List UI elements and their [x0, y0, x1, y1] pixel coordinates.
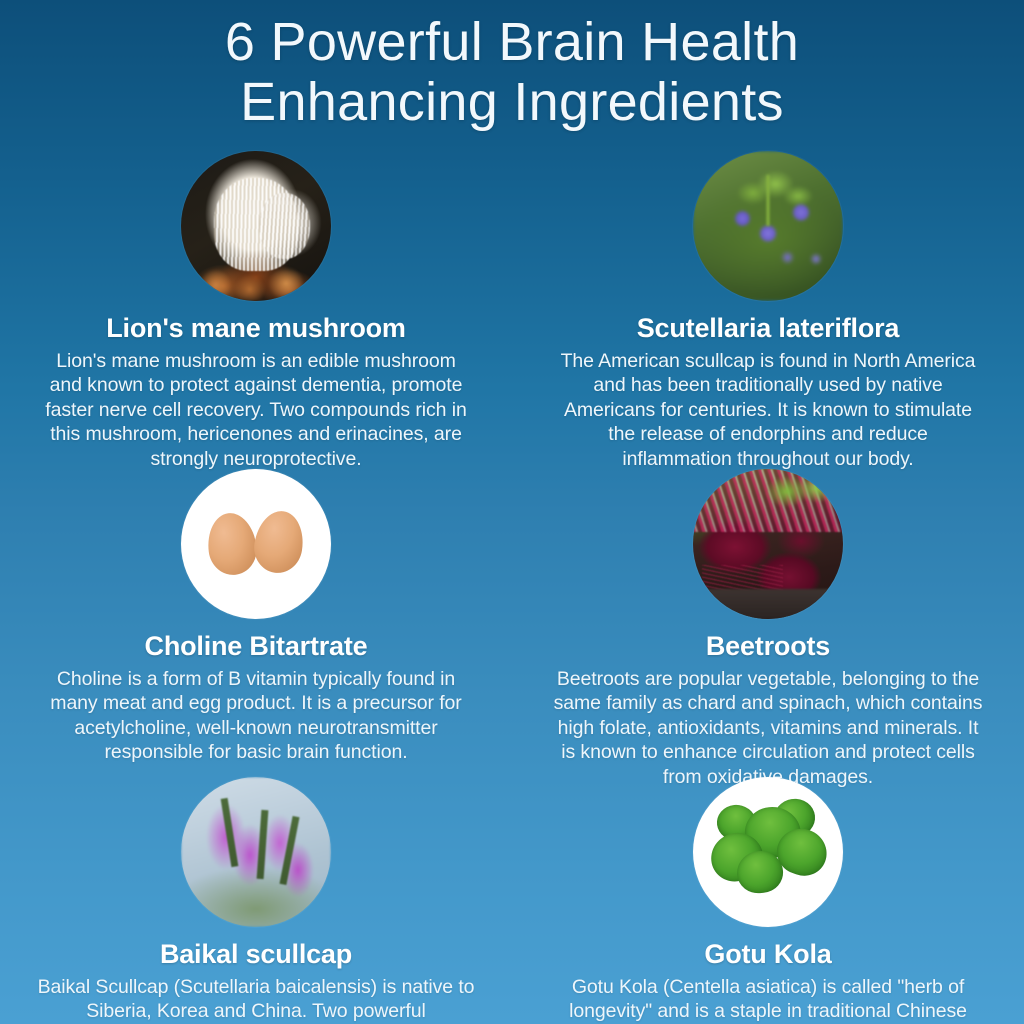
ingredient-description: Choline is a form of B vitamin typically…	[41, 667, 471, 765]
ingredient-title: Scutellaria lateriflora	[637, 314, 900, 344]
ingredient-title: Choline Bitartrate	[145, 632, 368, 662]
baikal-scullcap-photo	[181, 777, 331, 927]
ingredient-title: Gotu Kola	[704, 940, 831, 970]
ingredient-card-baikal-scullcap: Baikal scullcap Baikal Scullcap (Scutell…	[0, 777, 512, 1024]
infographic-poster: 6 Powerful Brain Health Enhancing Ingred…	[0, 0, 1024, 1024]
ingredient-description: The American scullcap is found in North …	[553, 349, 983, 472]
ingredient-description: Baikal Scullcap (Scutellaria baicalensis…	[14, 975, 498, 1024]
ingredient-title: Baikal scullcap	[160, 940, 352, 970]
ingredient-card-choline-bitartrate: Choline Bitartrate Choline is a form of …	[0, 469, 512, 769]
ingredient-title: Beetroots	[706, 632, 830, 662]
ingredient-card-lions-mane-mushroom: Lion's mane mushroom Lion's mane mushroo…	[0, 151, 512, 461]
gotu-kola-photo	[693, 777, 843, 927]
beetroots-photo	[693, 469, 843, 619]
ingredients-grid: Lion's mane mushroom Lion's mane mushroo…	[0, 151, 1024, 1024]
scutellaria-lateriflora-photo	[693, 151, 843, 301]
poster-title: 6 Powerful Brain Health Enhancing Ingred…	[0, 0, 1024, 133]
ingredient-description: Lion's mane mushroom is an edible mushro…	[41, 349, 471, 472]
eggs-photo	[181, 469, 331, 619]
ingredient-card-scutellaria-lateriflora: Scutellaria lateriflora The American scu…	[512, 151, 1024, 461]
ingredient-card-gotu-kola: Gotu Kola Gotu Kola (Centella asiatica) …	[512, 777, 1024, 1024]
ingredient-title: Lion's mane mushroom	[106, 314, 405, 344]
title-line-1: 6 Powerful Brain Health	[0, 12, 1024, 72]
ingredient-description: Gotu Kola (Centella asiatica) is called …	[553, 975, 983, 1024]
title-line-2: Enhancing Ingredients	[0, 72, 1024, 132]
ingredient-card-beetroots: Beetroots Beetroots are popular vegetabl…	[512, 469, 1024, 769]
lions-mane-mushroom-photo	[181, 151, 331, 301]
ingredient-description: Beetroots are popular vegetable, belongi…	[553, 667, 983, 790]
